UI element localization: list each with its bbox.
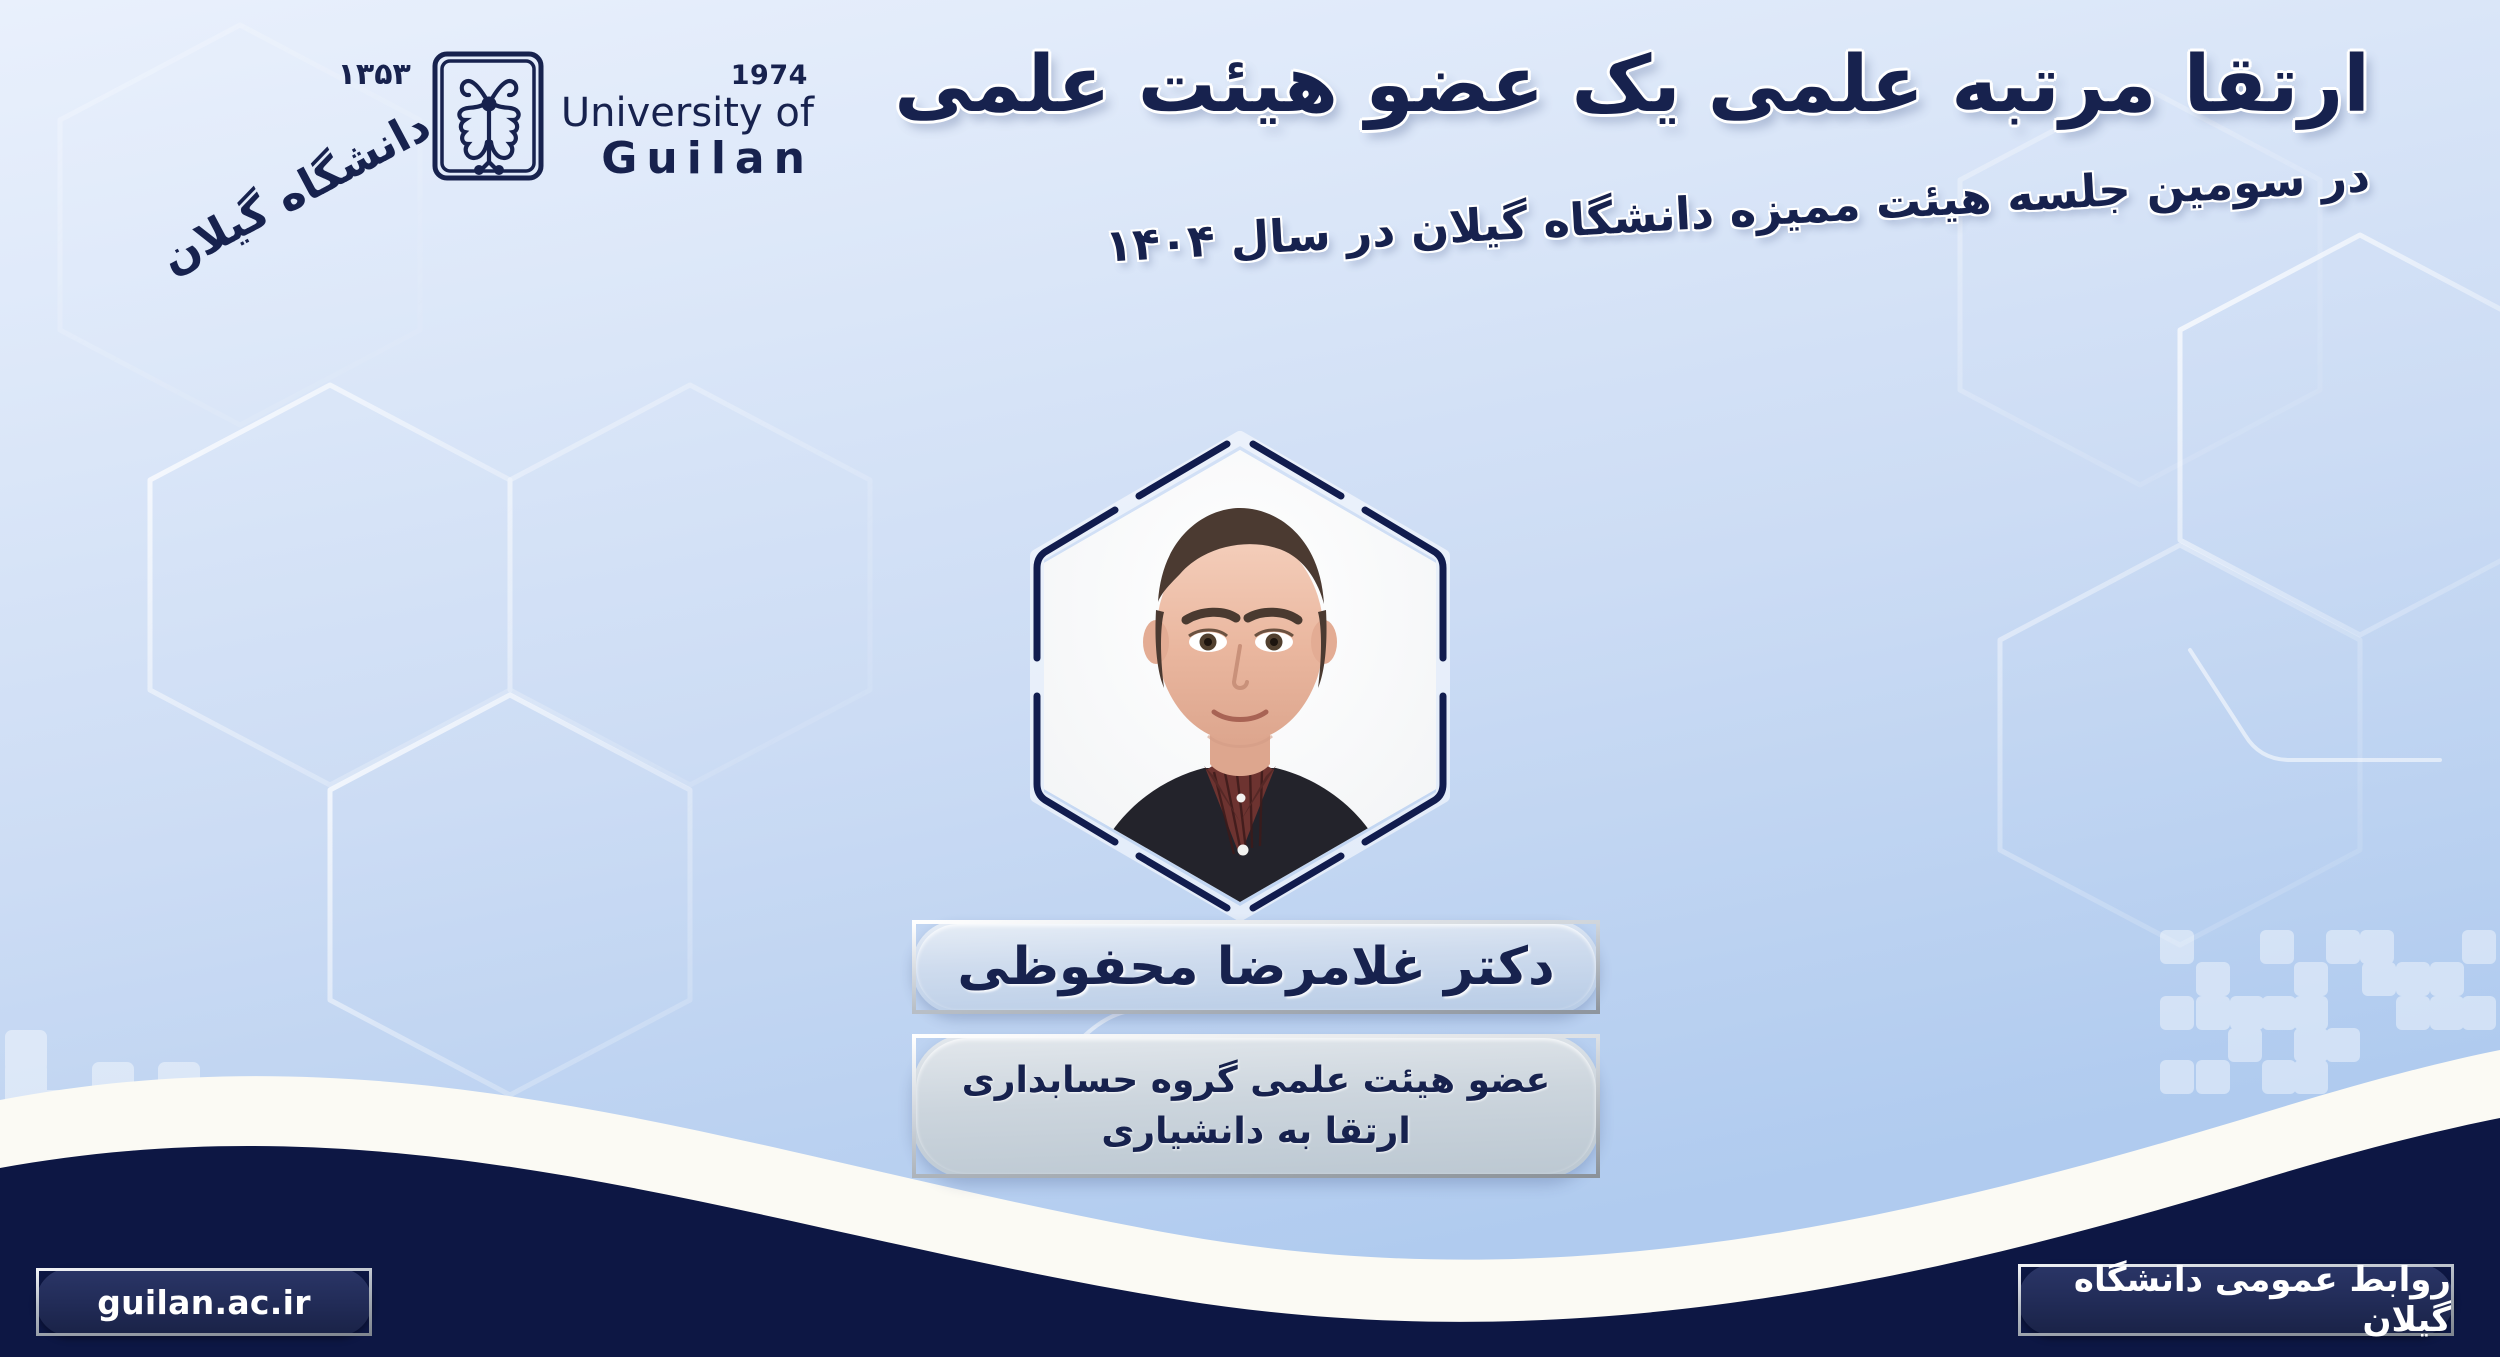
- pixel-grid-right: [2160, 930, 2496, 1094]
- guilan-university-emblem-icon: [429, 50, 549, 186]
- page-subtitle: در سومین جلسه هیئت ممیزه دانشگاه گیلان د…: [895, 147, 2372, 288]
- logo-year-gregorian: 1974: [731, 62, 808, 89]
- website-url: guilan.ac.ir: [97, 1283, 311, 1322]
- person-role-line-2: ارتقا به دانشیاری: [1101, 1106, 1410, 1157]
- header-titles: ارتقا مرتبه علمی یک عضو هیئت علمی در سوم…: [894, 38, 2370, 206]
- pixel-grid-left: [5, 1030, 200, 1240]
- hexagon-outline-icon: [1019, 428, 1461, 924]
- page-title: ارتقا مرتبه علمی یک عضو هیئت علمی: [894, 38, 2370, 133]
- logo-persian-text: ۱۳۵۳ دانشگاه گیلان: [118, 40, 415, 151]
- person-name: دکتر غلامرضا محفوظی: [957, 937, 1554, 997]
- person-role-badge: عضو هیئت علمی گروه حسابداری ارتقا به دان…: [912, 1034, 1600, 1178]
- logo-year-persian: ۱۳۵۳: [338, 60, 411, 90]
- logo-english-text: 1974 University of Guilan: [561, 40, 814, 182]
- poster-canvas: 1974 University of Guilan: [0, 0, 2500, 1357]
- public-relations-pill: روابط عمومی دانشگاه گیلان: [2018, 1264, 2454, 1336]
- logo-university-name-persian: دانشگاه گیلان: [153, 100, 439, 284]
- portrait-frame: [1019, 428, 1461, 924]
- logo-university-line: University of: [561, 92, 814, 134]
- poster-header: 1974 University of Guilan: [0, 0, 2500, 300]
- person-role-line-1: عضو هیئت علمی گروه حسابداری: [962, 1055, 1551, 1106]
- public-relations-label: روابط عمومی دانشگاه گیلان: [2021, 1260, 2451, 1340]
- website-pill[interactable]: guilan.ac.ir: [36, 1268, 372, 1336]
- person-name-badge: دکتر غلامرضا محفوظی: [912, 920, 1600, 1014]
- logo-guilan-wordmark: Guilan: [601, 136, 814, 182]
- university-logo: 1974 University of Guilan: [118, 40, 814, 186]
